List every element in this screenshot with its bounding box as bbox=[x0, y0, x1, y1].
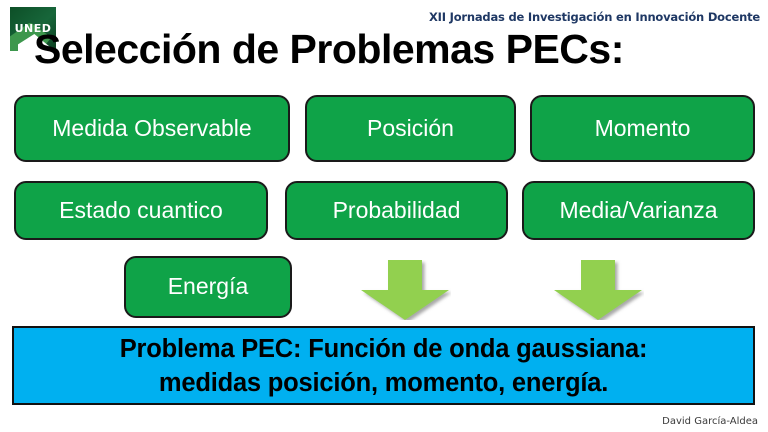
conclusion-box: Problema PEC: Función de onda gaussiana:… bbox=[12, 326, 755, 405]
slide-title: Selección de Problemas PECs: bbox=[34, 25, 734, 73]
concept-box-estado-cuantico[interactable]: Estado cuantico bbox=[14, 181, 268, 240]
author-credit: David García-Aldea bbox=[662, 416, 758, 427]
concept-box-label: Estado cuantico bbox=[59, 198, 223, 223]
concept-box-media-varianza[interactable]: Media/Varianza bbox=[522, 181, 755, 240]
concept-box-posicion[interactable]: Posición bbox=[305, 95, 516, 162]
down-arrow-icon bbox=[552, 260, 644, 320]
concept-box-medida-observable[interactable]: Medida Observable bbox=[14, 95, 290, 162]
concept-box-label: Posición bbox=[367, 116, 454, 141]
concept-box-label: Energía bbox=[168, 274, 249, 299]
conclusion-line-1: Problema PEC: Función de onda gaussiana: bbox=[120, 332, 648, 366]
down-arrow-media-varianza bbox=[552, 260, 644, 320]
concept-box-label: Media/Varianza bbox=[559, 198, 717, 223]
conclusion-line-2: medidas posición, momento, energía. bbox=[159, 366, 608, 400]
concept-box-label: Medida Observable bbox=[52, 116, 251, 141]
slide-canvas: UNED XII Jornadas de Investigación en In… bbox=[0, 0, 768, 432]
concept-box-energia[interactable]: Energía bbox=[124, 256, 292, 318]
concept-box-probabilidad[interactable]: Probabilidad bbox=[285, 181, 508, 240]
uned-logo-text: UNED bbox=[10, 22, 56, 35]
conference-banner-text: XII Jornadas de Investigación en Innovac… bbox=[429, 10, 760, 24]
down-arrow-probabilidad bbox=[359, 260, 451, 320]
down-arrow-icon bbox=[359, 260, 451, 320]
concept-box-label: Probabilidad bbox=[333, 198, 461, 223]
concept-box-momento[interactable]: Momento bbox=[530, 95, 755, 162]
concept-box-label: Momento bbox=[595, 116, 691, 141]
